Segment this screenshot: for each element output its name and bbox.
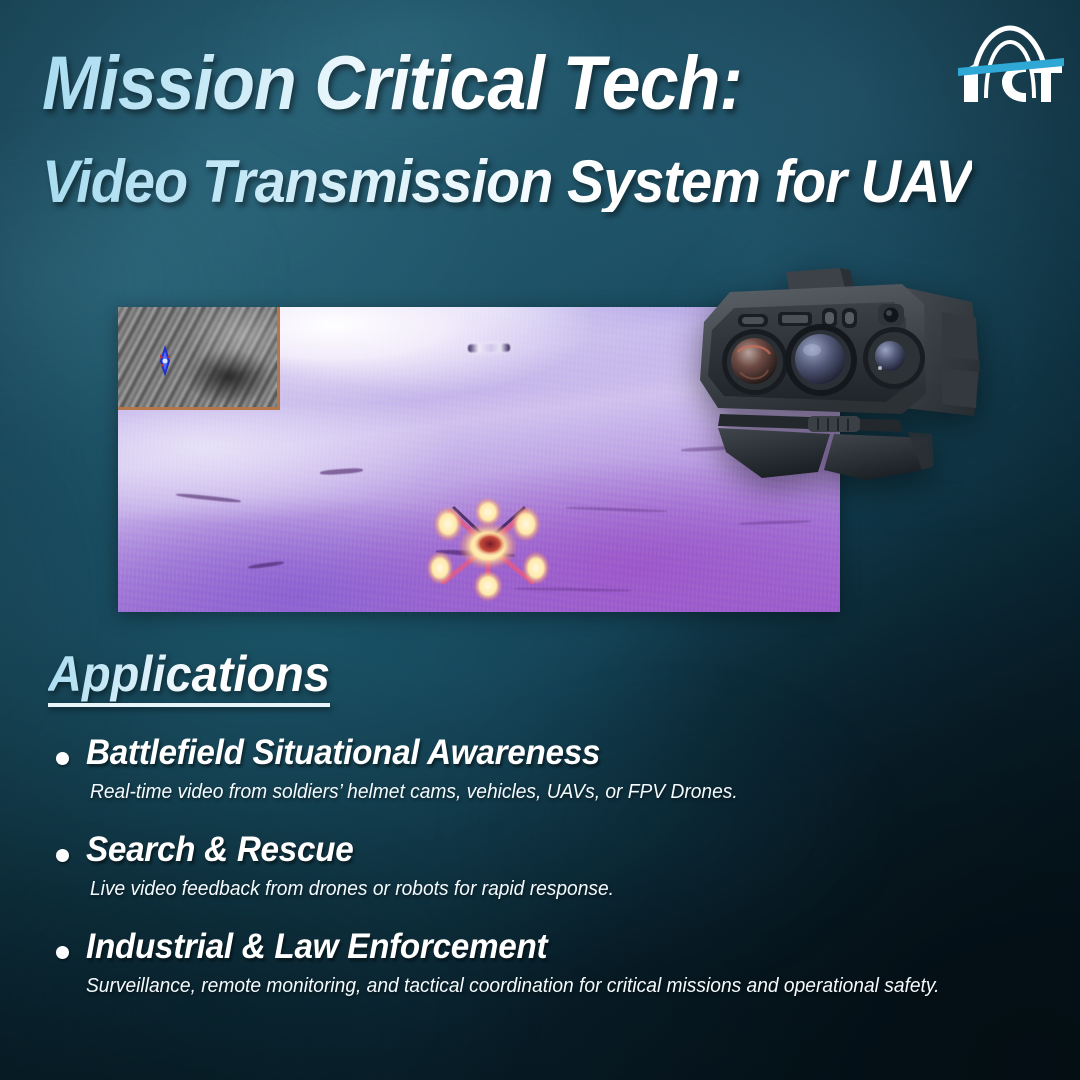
title-line-2: Video Transmission System for UAV	[42, 152, 972, 212]
blue-diamond-target-marker-icon	[152, 345, 178, 377]
application-title: Industrial & Law Enforcement	[86, 927, 1000, 966]
distant-aircraft-icon	[468, 343, 510, 352]
list-item: Search & Rescue Live video feedback from…	[48, 830, 1048, 901]
applications-heading: Applications	[48, 648, 330, 707]
bullet-icon	[56, 849, 69, 862]
picture-in-picture-inset	[118, 307, 280, 410]
title-line-1: Mission Critical Tech:	[42, 46, 742, 122]
list-item: Industrial & Law Enforcement Surveillanc…	[48, 927, 1048, 998]
application-description: Surveillance, remote monitoring, and tac…	[86, 975, 1010, 998]
application-title: Search & Rescue	[86, 830, 1000, 869]
tactical-fpv-goggles-image	[690, 256, 1010, 516]
application-description: Real-time video from soldiers’ helmet ca…	[90, 781, 1010, 804]
application-title: Battlefield Situational Awareness	[86, 733, 1000, 772]
pip-terrain	[118, 307, 277, 407]
bullet-icon	[56, 946, 69, 959]
applications-list: Battlefield Situational Awareness Real-t…	[48, 733, 1048, 999]
application-description: Live video feedback from drones or robot…	[90, 878, 1010, 901]
applications-section: Applications Battlefield Situational Awa…	[48, 648, 1048, 1024]
page-title: Mission Critical Tech: Video Transmissio…	[42, 46, 1032, 212]
bullet-icon	[56, 752, 69, 765]
thermal-hot-quadcopter-icon	[414, 490, 562, 602]
list-item: Battlefield Situational Awareness Real-t…	[48, 733, 1048, 804]
